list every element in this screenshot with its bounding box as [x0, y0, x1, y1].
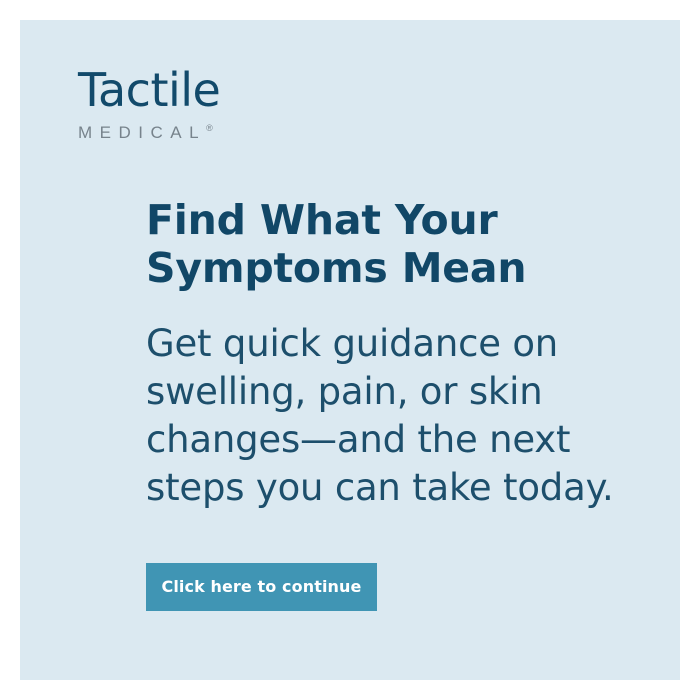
body-copy-line: Get quick guidance on — [146, 320, 646, 368]
logo-wordmark: Tactile — [78, 64, 220, 116]
registered-trademark-icon: ® — [206, 123, 213, 133]
body-copy-line: changes—and the next — [146, 416, 646, 464]
page-title: Find What Your Symptoms Mean — [146, 196, 616, 292]
brand-logo: Tactile MEDICAL® — [78, 64, 220, 143]
body-copy-line: steps you can take today. — [146, 464, 646, 512]
ad-card: Tactile MEDICAL® Find What Your Symptoms… — [20, 20, 680, 680]
click-here-to-continue-button[interactable]: Click here to continue — [146, 563, 377, 611]
logo-subtext: MEDICAL® — [78, 118, 220, 143]
headline-line: Symptoms Mean — [146, 244, 616, 292]
body-copy: Get quick guidance on swelling, pain, or… — [146, 320, 646, 512]
body-copy-line: swelling, pain, or skin — [146, 368, 646, 416]
logo-subtext-label: MEDICAL — [78, 123, 206, 142]
headline-line: Find What Your — [146, 196, 616, 244]
